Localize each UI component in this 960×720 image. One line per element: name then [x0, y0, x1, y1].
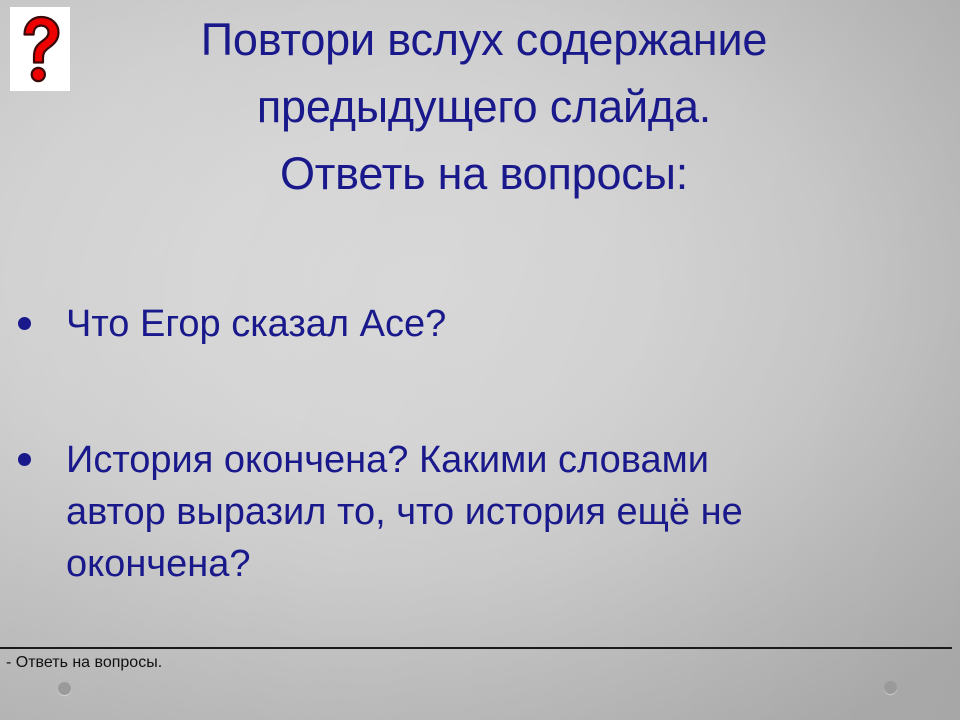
footer-note: - Ответь на вопросы.: [6, 652, 162, 674]
bullet-marker-icon: [18, 453, 31, 466]
bullet-marker-icon: [18, 317, 31, 330]
decorative-dot-left: [58, 682, 71, 695]
list-item-text: Что Егор сказал Асе?: [66, 298, 848, 350]
question-mark-icon: [10, 7, 70, 91]
list-item: Что Егор сказал Асе?: [12, 298, 848, 350]
footer-divider: [0, 647, 952, 649]
list-item-text: История окончена? Какими словами автор в…: [66, 434, 766, 590]
question-list: Что Егор сказал Асе? История окончена? К…: [12, 298, 848, 590]
decorative-dot-right: [884, 681, 897, 694]
list-item: История окончена? Какими словами автор в…: [12, 434, 848, 590]
presentation-slide: Повтори вслух содержание предыдущего сла…: [0, 0, 960, 720]
page-title: Повтори вслух содержание предыдущего сла…: [84, 6, 884, 207]
